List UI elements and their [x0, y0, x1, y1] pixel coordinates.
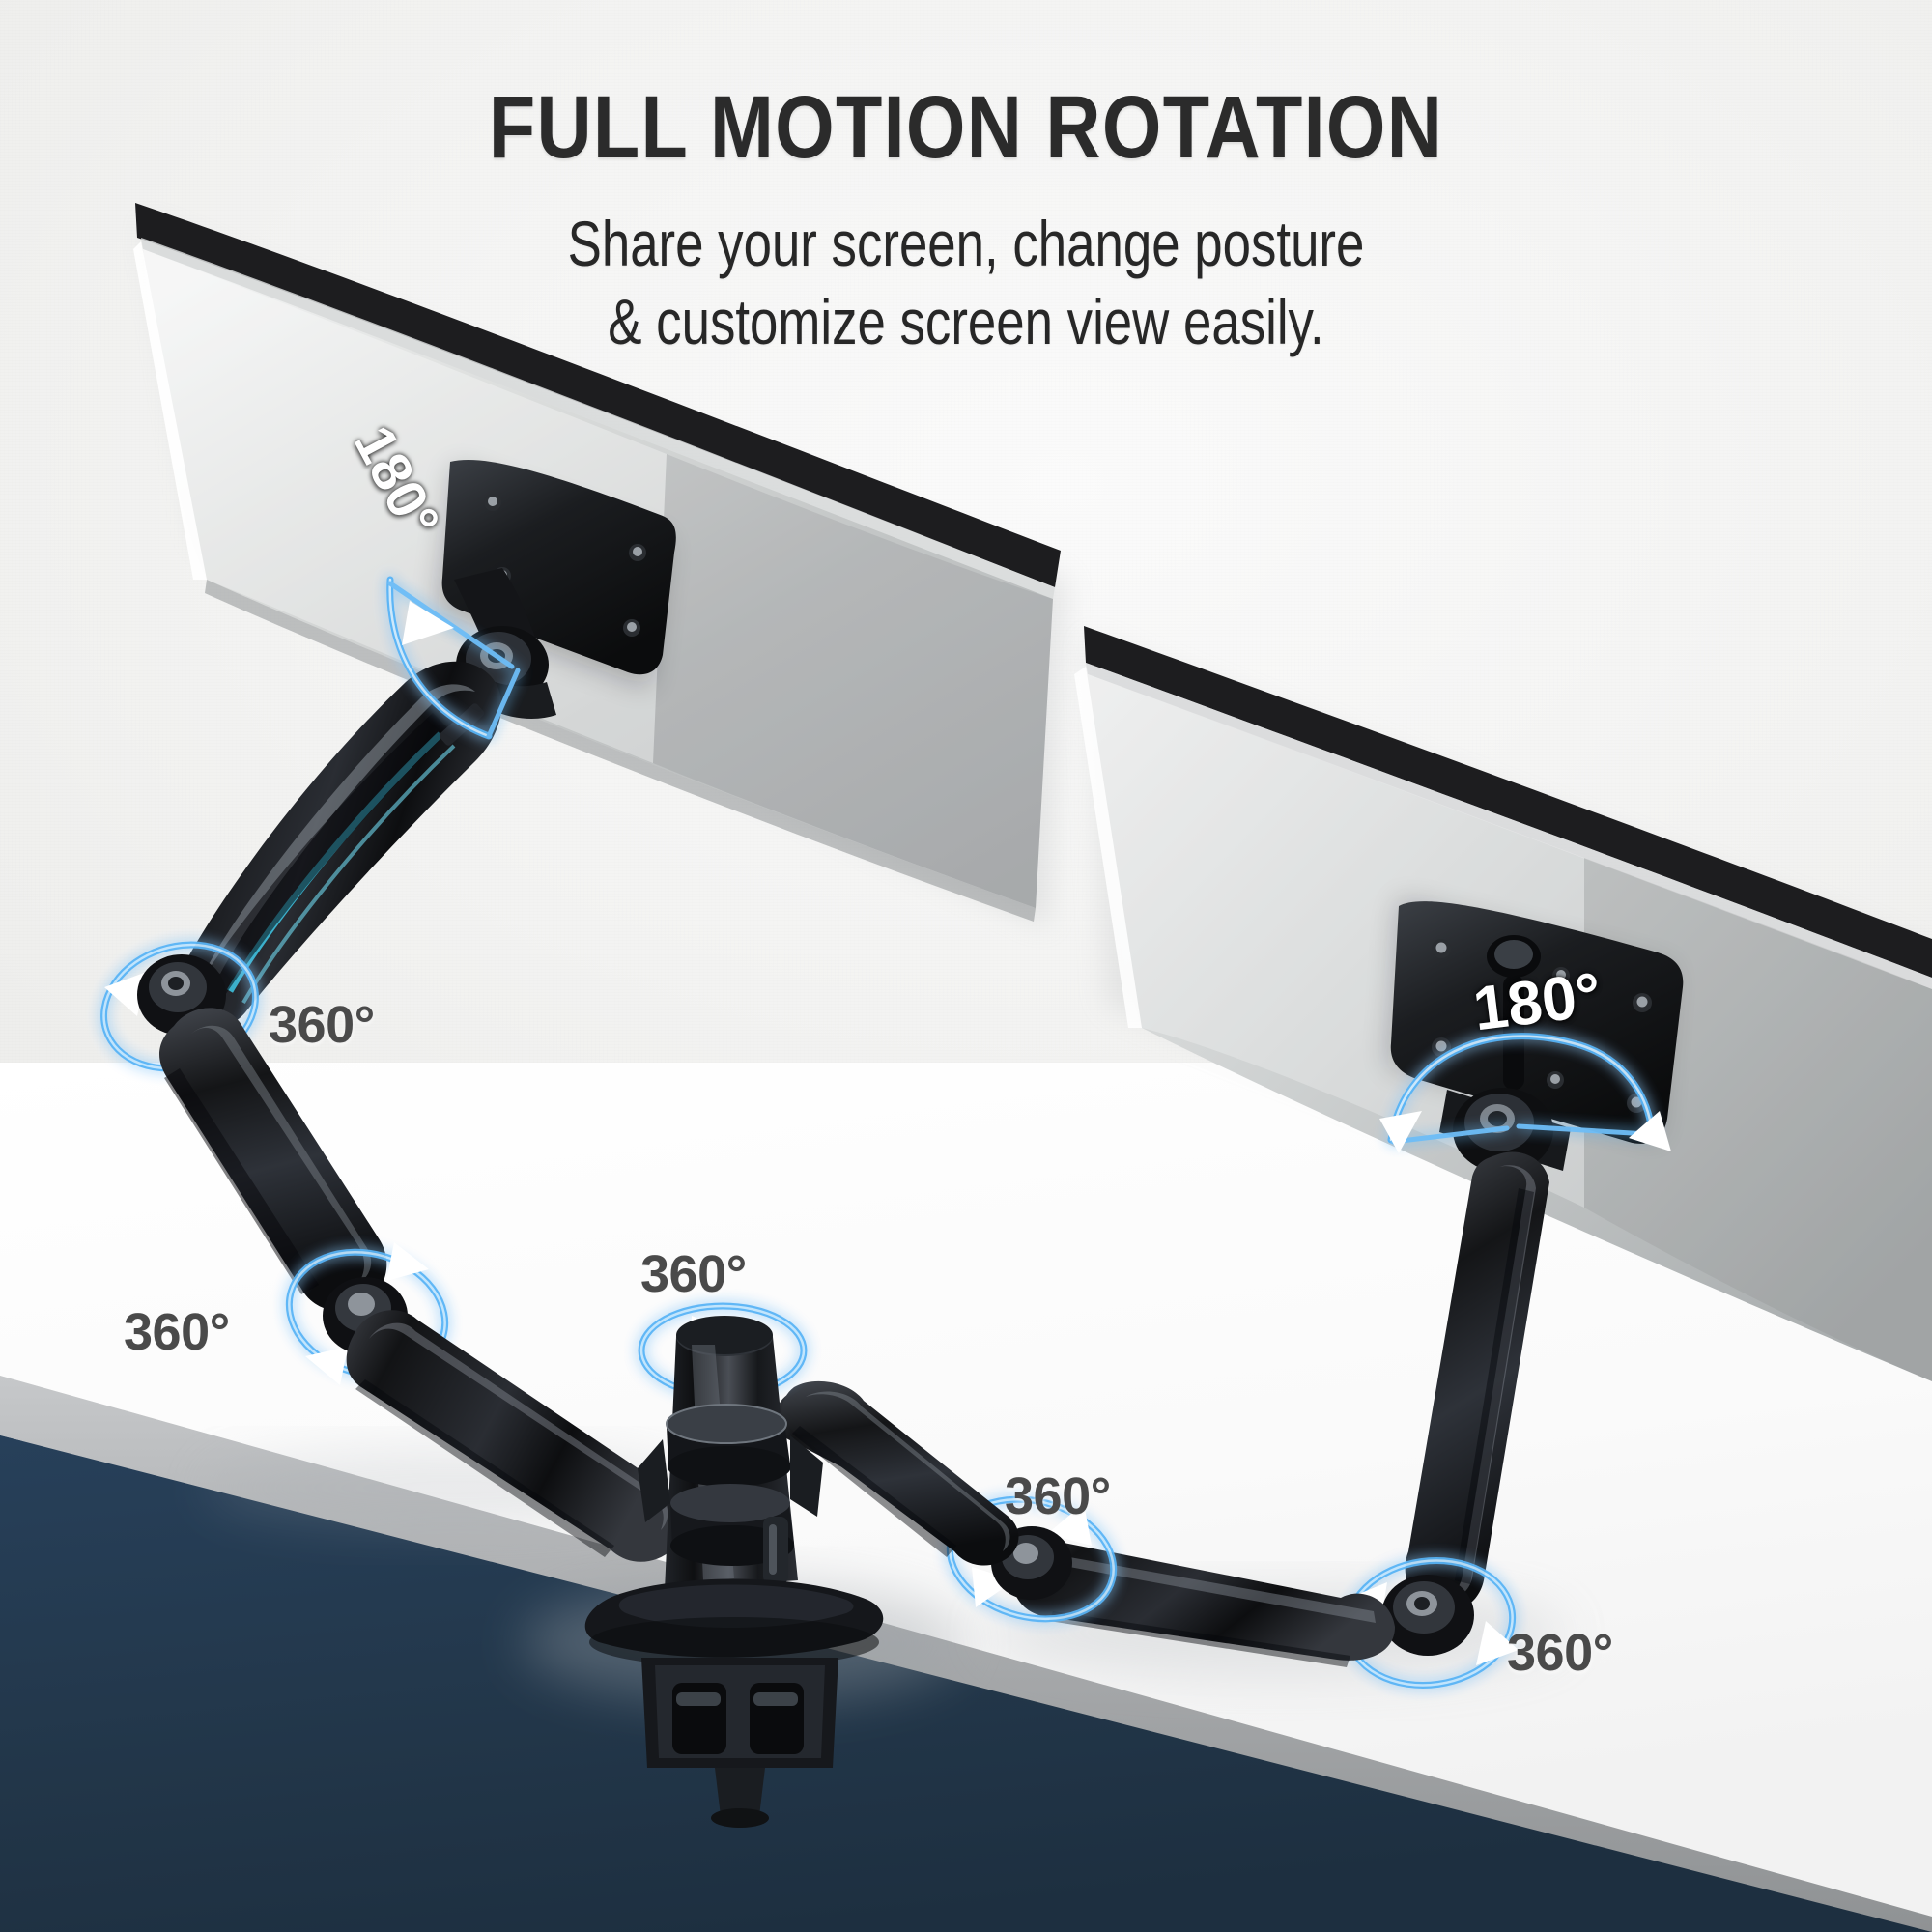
page-title: FULL MOTION ROTATION — [135, 83, 1797, 172]
label-right-arm-base: 360° — [1507, 1623, 1613, 1683]
subtitle-line-2: & customize screen view easily. — [193, 283, 1739, 361]
label-left-arm-base: 360° — [124, 1302, 230, 1362]
product-marketing-image: FULL MOTION ROTATION Share your screen, … — [0, 0, 1932, 1932]
label-center-pole: 360° — [640, 1244, 747, 1304]
headline-block: FULL MOTION ROTATION Share your screen, … — [0, 83, 1932, 360]
label-left-arm-elbow: 360° — [269, 995, 375, 1055]
page-subtitle: Share your screen, change posture & cust… — [193, 205, 1739, 360]
subtitle-line-1: Share your screen, change posture — [568, 208, 1365, 279]
right-vertical-arm — [1406, 1151, 1549, 1611]
label-right-arm-elbow: 360° — [1005, 1466, 1111, 1526]
